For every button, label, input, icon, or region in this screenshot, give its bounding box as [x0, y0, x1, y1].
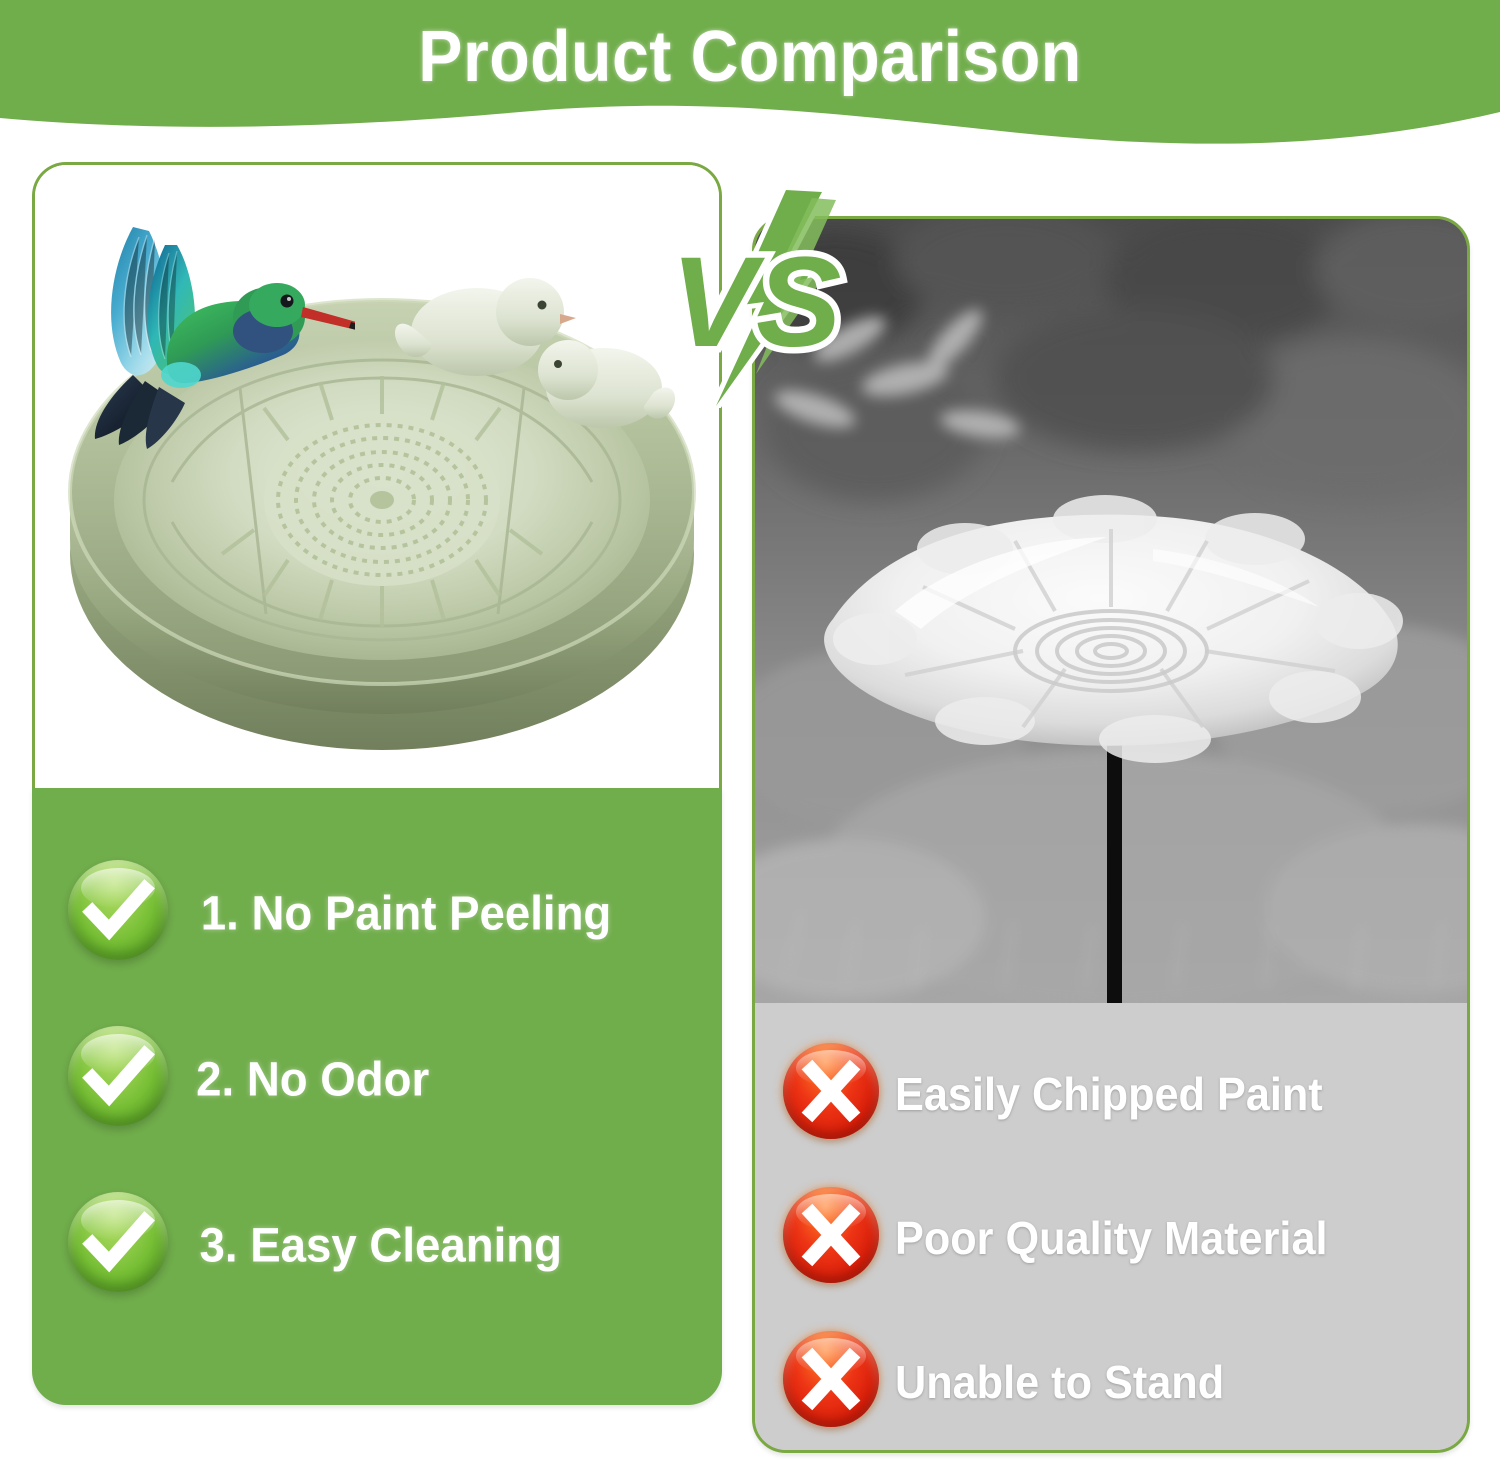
check-circle-icon — [68, 1192, 168, 1292]
vs-badge: VS — [660, 188, 860, 408]
x-circle-icon — [783, 1043, 879, 1139]
x-mark-glyph — [783, 1331, 879, 1427]
vs-letters: VS — [671, 231, 842, 374]
check-mark-glyph — [68, 860, 168, 960]
cons-list-item: Poor Quality Material — [783, 1183, 1443, 1293]
pros-list-item: 1. No Paint Peeling — [68, 850, 708, 978]
svg-text:VS: VS — [671, 231, 842, 374]
x-mark-glyph — [783, 1043, 879, 1139]
pros-list-item: 2. No Odor — [68, 1016, 708, 1144]
pros-item-label: 1. No Paint Peeling — [190, 887, 622, 942]
check-mark-glyph — [68, 1026, 168, 1126]
glass-bird-bath-image — [755, 219, 1467, 1003]
check-mark-glyph — [68, 1192, 168, 1292]
vs-graphic: VS — [660, 188, 860, 408]
header-band: Product Comparison — [0, 0, 1500, 150]
left-product-photo-card — [32, 162, 722, 790]
cons-panel: Easily Chipped Paint Poor Quality Materi… — [755, 1003, 1467, 1453]
page-title: Product Comparison — [60, 16, 1440, 98]
pros-list-item: 3. Easy Cleaning — [68, 1182, 708, 1310]
x-mark-glyph — [783, 1187, 879, 1283]
check-circle-icon — [68, 1026, 168, 1126]
pros-panel: 1. No Paint Peeling 2. No Odor — [32, 788, 722, 1405]
x-circle-icon — [783, 1331, 879, 1427]
hummingbird-image — [32, 162, 355, 467]
pros-item-label: 2. No Odor — [190, 1053, 435, 1108]
cons-item-label: Easily Chipped Paint — [895, 1067, 1350, 1121]
pros-item-label: 3. Easy Cleaning — [190, 1219, 572, 1274]
pros-list: 1. No Paint Peeling 2. No Odor — [68, 850, 708, 1348]
cons-list: Easily Chipped Paint Poor Quality Materi… — [783, 1039, 1443, 1453]
cons-list-item: Easily Chipped Paint — [783, 1039, 1443, 1149]
cons-list-item: Unable to Stand — [783, 1327, 1443, 1437]
x-circle-icon — [783, 1187, 879, 1283]
comparison-infographic: Product Comparison — [0, 0, 1500, 1463]
glass-bird-bath-photo — [755, 219, 1467, 1003]
cons-item-label: Poor Quality Material — [895, 1211, 1355, 1265]
check-circle-icon — [68, 860, 168, 960]
cons-item-label: Unable to Stand — [895, 1355, 1245, 1409]
